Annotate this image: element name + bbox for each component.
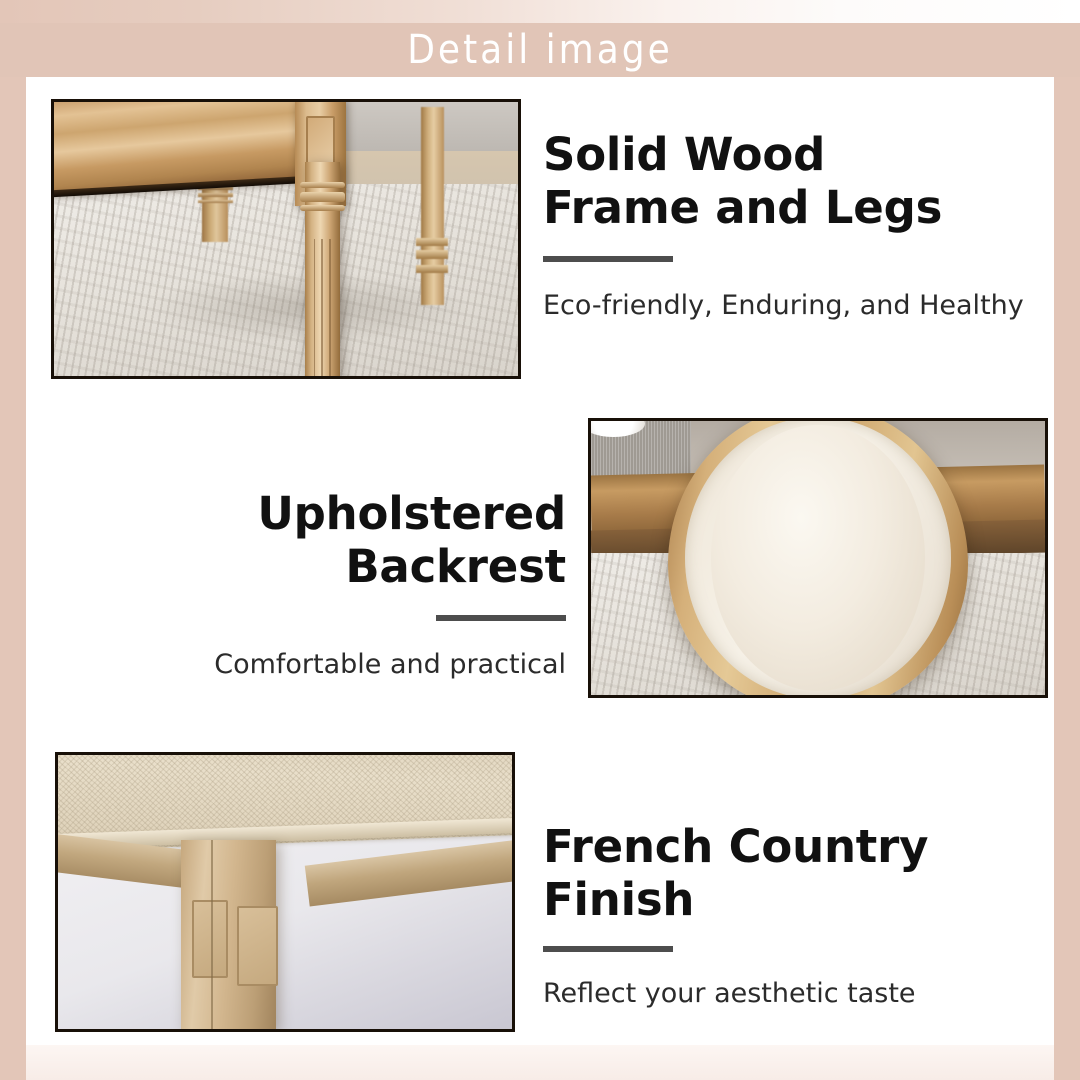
photo-scene-seat-corner bbox=[58, 755, 512, 1029]
feature-subtitle: Comfortable and practical bbox=[56, 647, 566, 682]
feature-divider bbox=[436, 615, 566, 621]
feature-divider bbox=[543, 256, 673, 262]
feature-image-french-country-finish bbox=[55, 752, 515, 1032]
feature-heading-line2: Frame and Legs bbox=[543, 181, 1053, 234]
photo-scene-backrest bbox=[591, 421, 1045, 695]
feature-image-upholstered-backrest bbox=[588, 418, 1048, 698]
feature-subtitle: Reflect your aesthetic taste bbox=[543, 976, 1053, 1011]
post-edge-highlight bbox=[211, 840, 213, 1029]
carved-panel-right bbox=[237, 906, 277, 987]
top-gradient-strip bbox=[0, 0, 1080, 23]
feature-heading-line1: Solid Wood bbox=[543, 128, 1053, 181]
page-title: Detail image bbox=[0, 23, 1080, 77]
chair-leg-front bbox=[305, 162, 340, 376]
photo-scene-chair-legs bbox=[54, 102, 518, 376]
feature-text-solid-wood-frame-and-legs: Solid Wood Frame and Legs Eco-friendly, … bbox=[543, 128, 1053, 323]
feature-divider bbox=[543, 946, 673, 952]
feature-text-french-country-finish: French Country Finish Reflect your aesth… bbox=[543, 820, 1053, 1011]
detail-image-page: Detail image bbox=[0, 0, 1080, 1080]
bottom-gradient-strip bbox=[26, 1045, 1054, 1080]
chair-leg-back-right bbox=[421, 107, 444, 304]
feature-subtitle: Eco-friendly, Enduring, and Healthy bbox=[543, 288, 1053, 323]
backrest-wood-frame bbox=[668, 418, 968, 698]
feature-text-upholstered-backrest: Upholstered Backrest Comfortable and pra… bbox=[56, 487, 566, 682]
backrest-inner-ring bbox=[685, 418, 952, 698]
feature-heading-line1: Upholstered Backrest bbox=[56, 487, 566, 593]
feature-heading-line1: French Country Finish bbox=[543, 820, 1053, 926]
backrest-cushion bbox=[711, 425, 924, 690]
chair-apron bbox=[51, 99, 328, 192]
carved-panel-left bbox=[192, 900, 228, 978]
feature-image-solid-wood-frame-and-legs bbox=[51, 99, 521, 379]
